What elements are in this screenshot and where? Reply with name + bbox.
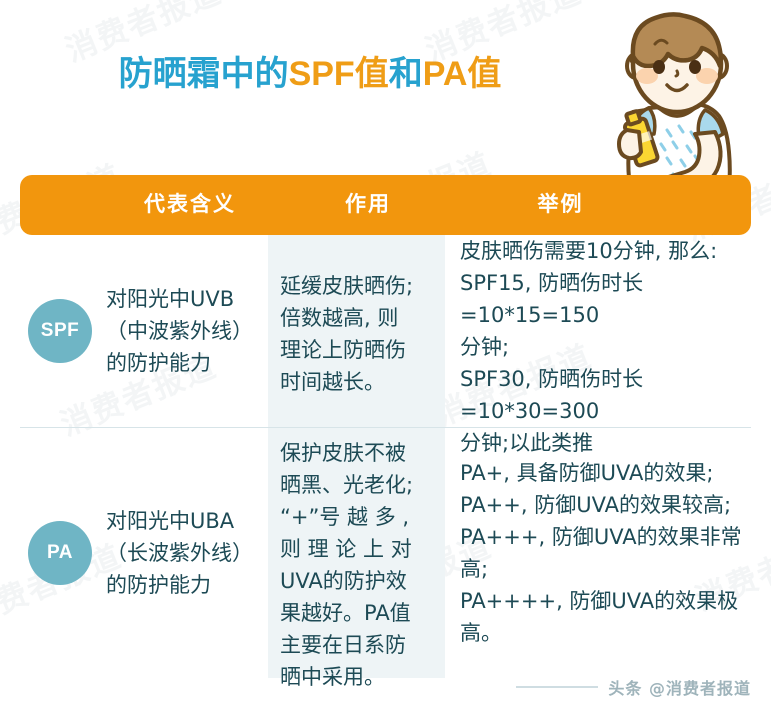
page-title-text: 防晒霜中的SPF值和PA值 xyxy=(0,52,620,96)
footer-divider xyxy=(516,686,598,688)
page-title: 防晒霜中的SPF值和PA值 xyxy=(0,52,620,96)
title-segment-1: SPF xyxy=(289,55,355,93)
title-segment-5: 值 xyxy=(467,55,501,93)
meaning-text: 对阳光中UVB （中波紫外线） 的防护能力 xyxy=(106,283,253,379)
title-segment-2: 值 xyxy=(355,55,389,93)
footer-text: 头条 @消费者报道 xyxy=(608,675,751,699)
footer-attribution: 头条 @消费者报道 xyxy=(516,675,751,699)
cell-meaning: SPF 对阳光中UVB （中波紫外线） 的防护能力 xyxy=(20,235,268,427)
table-row: PA 对阳光中UBA （长波紫外线） 的防护能力 保护皮肤不被 晒黑、光老化; … xyxy=(20,427,751,679)
spf-pa-comparison-table: 代表含义 作用 举例 SPF 对阳光中UVB （中波紫外线） 的防护能力 延缓皮… xyxy=(20,175,751,679)
cell-effect: 延缓皮肤晒伤; 倍数越高, 则 理论上防晒伤 时间越长。 xyxy=(268,235,445,427)
table-row: SPF 对阳光中UVB （中波紫外线） 的防护能力 延缓皮肤晒伤; 倍数越高, … xyxy=(20,235,751,427)
cell-example: PA+, 具备防御UVA的效果; PA++, 防御UVA的效果较高; PA+++… xyxy=(445,427,751,679)
effect-text: 延缓皮肤晒伤; 倍数越高, 则 理论上防晒伤 时间越长。 xyxy=(280,270,413,398)
cell-example: 一般而言, 在没有任何防护时, 皮肤晒伤需要10分钟, 那么: SPF15, 防… xyxy=(445,235,751,427)
title-segment-0: 防晒霜中的 xyxy=(119,55,289,93)
pa-badge: PA xyxy=(28,521,92,585)
example-text: 一般而言, 在没有任何防护时, 皮肤晒伤需要10分钟, 那么: SPF15, 防… xyxy=(460,203,751,459)
column-header-effect: 作用 xyxy=(288,175,448,235)
effect-text: 保护皮肤不被 晒黑、光老化; “+”号 越 多 , 则 理 论 上 对 UVA的… xyxy=(280,437,413,693)
title-segment-3: 和 xyxy=(389,55,423,93)
cell-meaning: PA 对阳光中UBA （长波紫外线） 的防护能力 xyxy=(20,427,268,679)
column-header-example: 举例 xyxy=(448,175,673,235)
column-header-meaning: 代表含义 xyxy=(92,175,288,235)
table-header-row: 代表含义 作用 举例 xyxy=(20,175,751,235)
example-text: PA+, 具备防御UVA的效果; PA++, 防御UVA的效果较高; PA+++… xyxy=(460,457,751,649)
cell-effect: 保护皮肤不被 晒黑、光老化; “+”号 越 多 , 则 理 论 上 对 UVA的… xyxy=(268,427,445,679)
spf-badge: SPF xyxy=(28,299,92,363)
title-segment-4: PA xyxy=(423,55,468,93)
row-divider xyxy=(20,427,751,428)
table-body: SPF 对阳光中UVB （中波紫外线） 的防护能力 延缓皮肤晒伤; 倍数越高, … xyxy=(20,235,751,679)
meaning-text: 对阳光中UBA （长波紫外线） 的防护能力 xyxy=(106,505,253,601)
